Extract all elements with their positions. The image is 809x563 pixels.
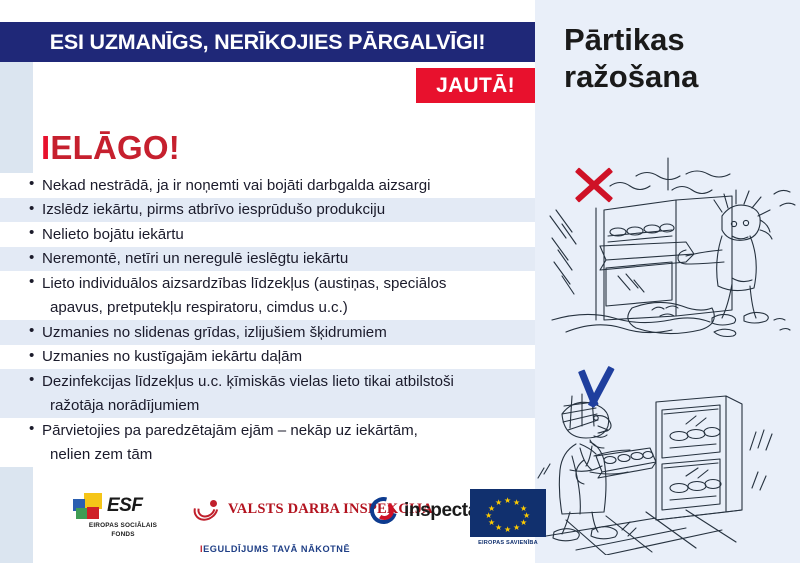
list-item: • Nelieto bojātu iekārtu [0, 222, 535, 247]
esf-squares-icon [73, 493, 103, 519]
list-item-line1: Nelieto bojātu iekārtu [42, 222, 521, 247]
bullet-glyph: • [29, 369, 34, 391]
header-banner: ESI UZMANĪGS, NERĪKOJIES PĀRGALVĪGI! [0, 22, 535, 62]
list-item-line1: Pārvietojies pa paredzētajām ejām – nekā… [42, 418, 521, 443]
bullet-glyph: • [29, 320, 34, 342]
inspecta-swirl-icon [370, 497, 397, 524]
list-item: • Uzmanies no slidenas grīdas, izlijušie… [0, 320, 535, 345]
eu-flag-icon: ★ ★ ★ ★ ★ ★ ★ ★ ★ ★ ★ ★ [470, 489, 546, 537]
logo-european-union: ★ ★ ★ ★ ★ ★ ★ ★ ★ ★ ★ ★ EIROPAS SAVIENĪB… [470, 489, 546, 546]
list-item-line1: Dezinfekcijas līdzekļus u.c. ķīmiskās vi… [42, 369, 521, 394]
esf-subtitle-line1: EIROPAS SOCIĀLAIS [73, 521, 173, 530]
inspecta-wordmark: inspecta [404, 500, 478, 522]
list-item: • Nekad nestrādā, ja ir noņemti vai bojā… [0, 173, 535, 198]
list-item: • Lieto individuālos aizsardzības līdzek… [0, 271, 535, 320]
tagline-text: EGULDĪJUMS TAVĀ NĀKOTNĒ [203, 544, 350, 554]
vdi-swirl-icon [193, 496, 223, 522]
list-item-line1: Lieto individuālos aizsardzības līdzekļu… [42, 271, 521, 296]
header-banner-text: ESI UZMANĪGS, NERĪKOJIES PĀRGALVĪGI! [50, 30, 486, 55]
poster-root: ESI UZMANĪGS, NERĪKOJIES PĀRGALVĪGI! JAU… [0, 0, 809, 563]
logo-esf: ESF EIROPAS SOCIĀLAIS FONDS [73, 493, 173, 539]
list-item-line2: nelien zem tām [42, 443, 521, 468]
list-item-line2: ražotāja norādījumiem [42, 394, 521, 419]
page-title-line1: Pārtikas [564, 22, 804, 59]
list-item: • Neremontē, netīri un neregulē ieslēgtu… [0, 247, 535, 272]
list-item: • Dezinfekcijas līdzekļus u.c. ķīmiskās … [0, 369, 535, 418]
bullet-glyph: • [29, 247, 34, 269]
check-mark-icon [572, 368, 626, 420]
esf-subtitle: EIROPAS SOCIĀLAIS FONDS [73, 521, 173, 539]
list-item-line1: Neremontē, netīri un neregulē ieslēgtu i… [42, 247, 521, 272]
esf-subtitle-line2: FONDS [73, 530, 173, 539]
list-item: • Uzmanies no kustīgajām iekārtu daļām [0, 345, 535, 370]
list-item-line1: Uzmanies no slidenas grīdas, izlijušiem … [42, 320, 521, 345]
section-heading-initial: I [41, 129, 50, 166]
list-item: • Pārvietojies pa paredzētajām ejām – ne… [0, 418, 535, 467]
ask-badge: JAUTĀ! [416, 68, 535, 103]
page-title: Pārtikas ražošana [564, 22, 804, 95]
section-heading-rest: ELĀGO! [50, 129, 180, 166]
bullet-glyph: • [29, 198, 34, 220]
illustration-correct [536, 360, 809, 555]
bullet-glyph: • [29, 271, 34, 293]
programme-tagline: IEGULDĪJUMS TAVĀ NĀKOTNĒ [200, 544, 350, 554]
list-item-line1: Izslēdz iekārtu, pirms atbrīvo iesprūduš… [42, 198, 521, 223]
list-item-line2: apavus, pretputekļu respiratoru, cimdus … [42, 296, 521, 321]
list-item-line1: Nekad nestrādā, ja ir noņemti vai bojāti… [42, 173, 521, 198]
logo-inspecta: inspecta [370, 497, 478, 524]
eu-subtitle: EIROPAS SAVIENĪBA [470, 540, 546, 546]
page-title-line2: ražošana [564, 59, 804, 96]
bullet-glyph: • [29, 173, 34, 195]
bullet-glyph: • [29, 222, 34, 244]
list-item: • Izslēdz iekārtu, pirms atbrīvo iesprūd… [0, 198, 535, 223]
illustration-incorrect [536, 150, 809, 345]
bullet-glyph: • [29, 345, 34, 367]
ask-badge-text: JAUTĀ! [436, 74, 515, 98]
safety-rule-list: • Nekad nestrādā, ja ir noņemti vai bojā… [0, 173, 535, 467]
esf-wordmark: ESF [107, 495, 142, 517]
x-mark-icon [571, 162, 617, 208]
section-heading: IELĀGO! [41, 129, 180, 167]
list-item-line1: Uzmanies no kustīgajām iekārtu daļām [42, 345, 521, 370]
bullet-glyph: • [29, 418, 34, 440]
